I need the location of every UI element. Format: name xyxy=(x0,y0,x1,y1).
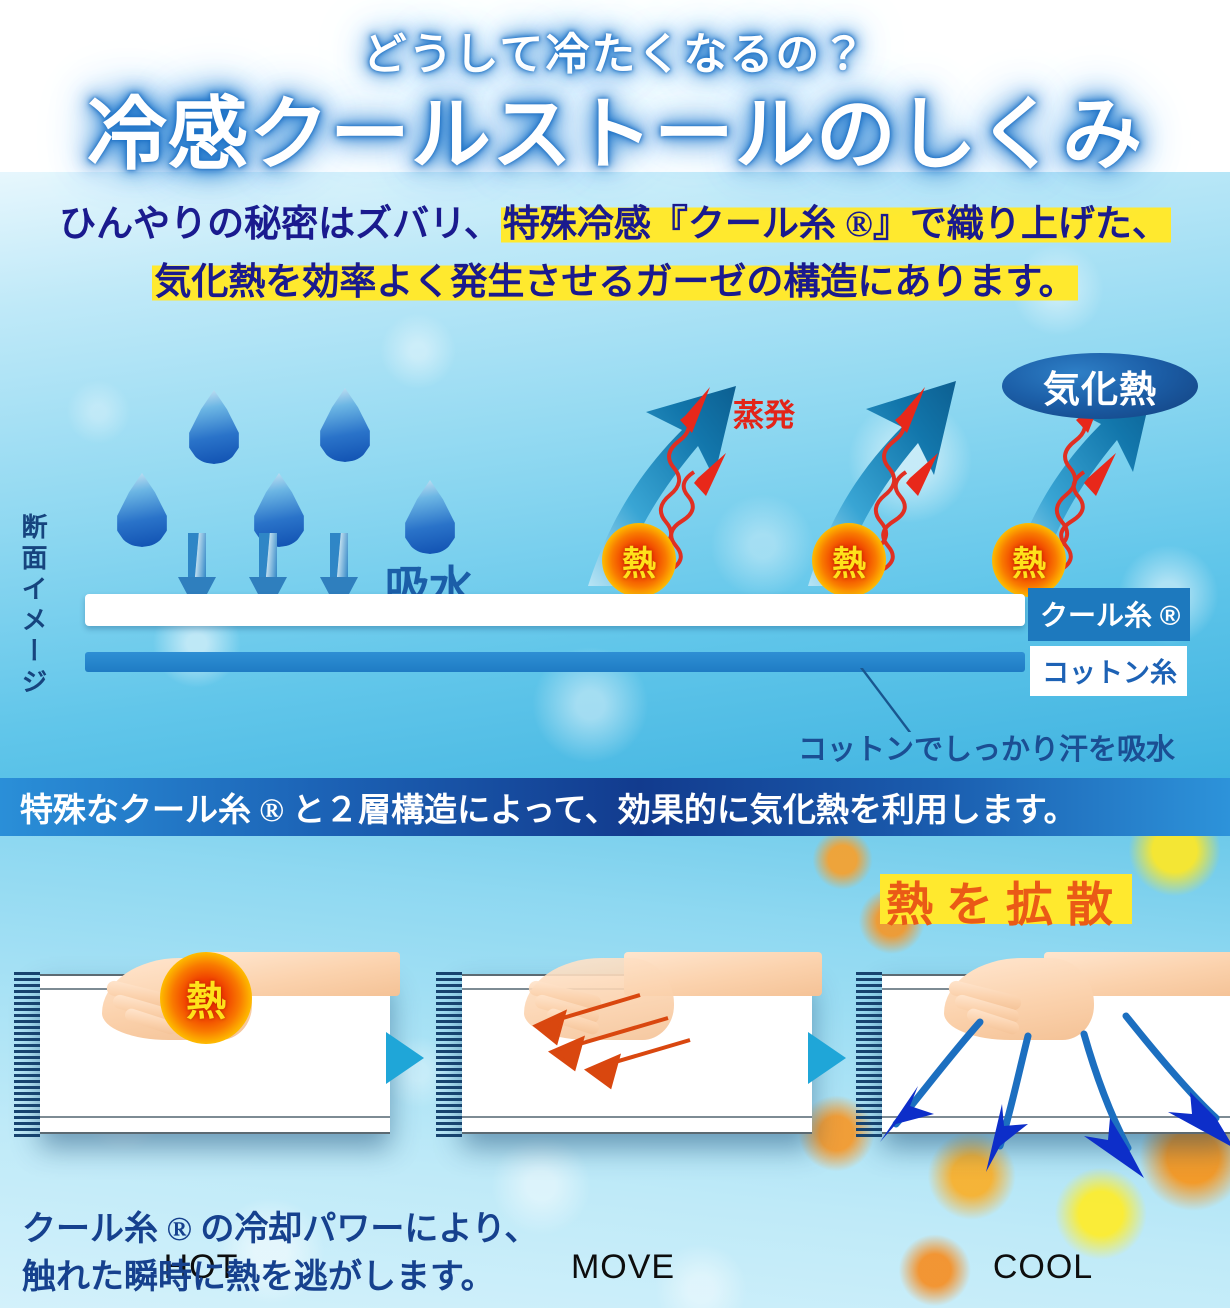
infographic-page: どうして冷たくなるの？ 冷感クールストールのしくみ ひんやりの秘密はズバリ、特殊… xyxy=(0,0,1230,1308)
step-arrow-icon xyxy=(386,1032,424,1084)
footer-line-2: 触れた瞬時に熱を逃がします。 xyxy=(22,1254,538,1302)
lead-paragraph: ひんやりの秘密はズバリ、特殊冷感『クール糸 ®』で織り上げた、 気化熱を効率よく… xyxy=(0,196,1230,313)
page-header: どうして冷たくなるの？ 冷感クールストールのしくみ xyxy=(0,0,1230,172)
water-drop-icon xyxy=(115,473,169,547)
heat-blob-icon: 熱 xyxy=(602,523,676,597)
heat-wave-arrow-icon xyxy=(1050,448,1220,583)
cool-yarn-layer xyxy=(85,594,1025,626)
step-arrow-icon xyxy=(808,1032,846,1084)
cross-section-section: ひんやりの秘密はズバリ、特殊冷感『クール糸 ®』で織り上げた、 気化熱を効率よく… xyxy=(0,168,1230,778)
heat-blob-icon: 熱 xyxy=(812,523,886,597)
lead-line-2: 気化熱を効率よく発生させるガーゼの構造にあります。 xyxy=(0,254,1230,312)
cool-yarn-tag: クール糸 ® xyxy=(1028,588,1190,641)
cotton-absorb-note: コットンでしっかり汗を吸水 xyxy=(798,726,1175,768)
heat-wave-arrow-icon xyxy=(660,448,830,583)
summary-banner-text: 特殊なクール糸 ® と２層構造によって、効果的に気化熱を利用します。 xyxy=(0,783,1077,831)
summary-banner: 特殊なクール糸 ® と２層構造によって、効果的に気化熱を利用します。 xyxy=(0,778,1230,836)
page-title: 冷感クールストールのしくみ xyxy=(0,70,1230,186)
panel-hot: 熱 HOT xyxy=(6,930,396,1152)
cotton-yarn-tag: コットン糸 xyxy=(1030,646,1187,696)
cross-section-vertical-label: 断面イメージ xyxy=(14,513,51,699)
heat-diffuse-label: 熱を拡散 xyxy=(880,864,1132,937)
fringe-icon xyxy=(14,972,40,1138)
panel-move: MOVE xyxy=(428,930,818,1152)
footer-text: クール糸 ® の冷却パワーにより、 触れた瞬時に熱を逃がします。 xyxy=(22,1206,538,1303)
vaporization-heat-badge: 気化熱 xyxy=(1002,353,1198,419)
lead-line-1-highlight: 特殊冷感『クール糸 ®』で織り上げた、 xyxy=(501,204,1171,245)
footer-line-1: クール糸 ® の冷却パワーにより、 xyxy=(22,1206,538,1254)
lead-line-1: ひんやりの秘密はズバリ、特殊冷感『クール糸 ®』で織り上げた、 xyxy=(0,196,1230,254)
lead-line-2-highlight: 気化熱を効率よく発生させるガーゼの構造にあります。 xyxy=(152,262,1077,303)
cool-diffusion-arrows-icon xyxy=(838,1006,1230,1206)
fringe-icon xyxy=(436,972,462,1138)
heat-blob-icon: 熱 xyxy=(160,952,252,1044)
water-drop-icon xyxy=(187,390,241,464)
leader-line xyxy=(860,668,994,732)
panel-cool: COOL xyxy=(848,930,1230,1152)
water-drop-icon xyxy=(318,388,372,462)
move-arrows-icon xyxy=(490,980,720,1100)
heat-blob-icon: 熱 xyxy=(992,523,1066,597)
evaporate-label: 蒸発 xyxy=(733,390,795,435)
water-drop-icon xyxy=(403,480,457,554)
panel-caption-cool: COOL xyxy=(848,1248,1230,1287)
lead-line-1-plain: ひんやりの秘密はズバリ、 xyxy=(59,204,501,245)
